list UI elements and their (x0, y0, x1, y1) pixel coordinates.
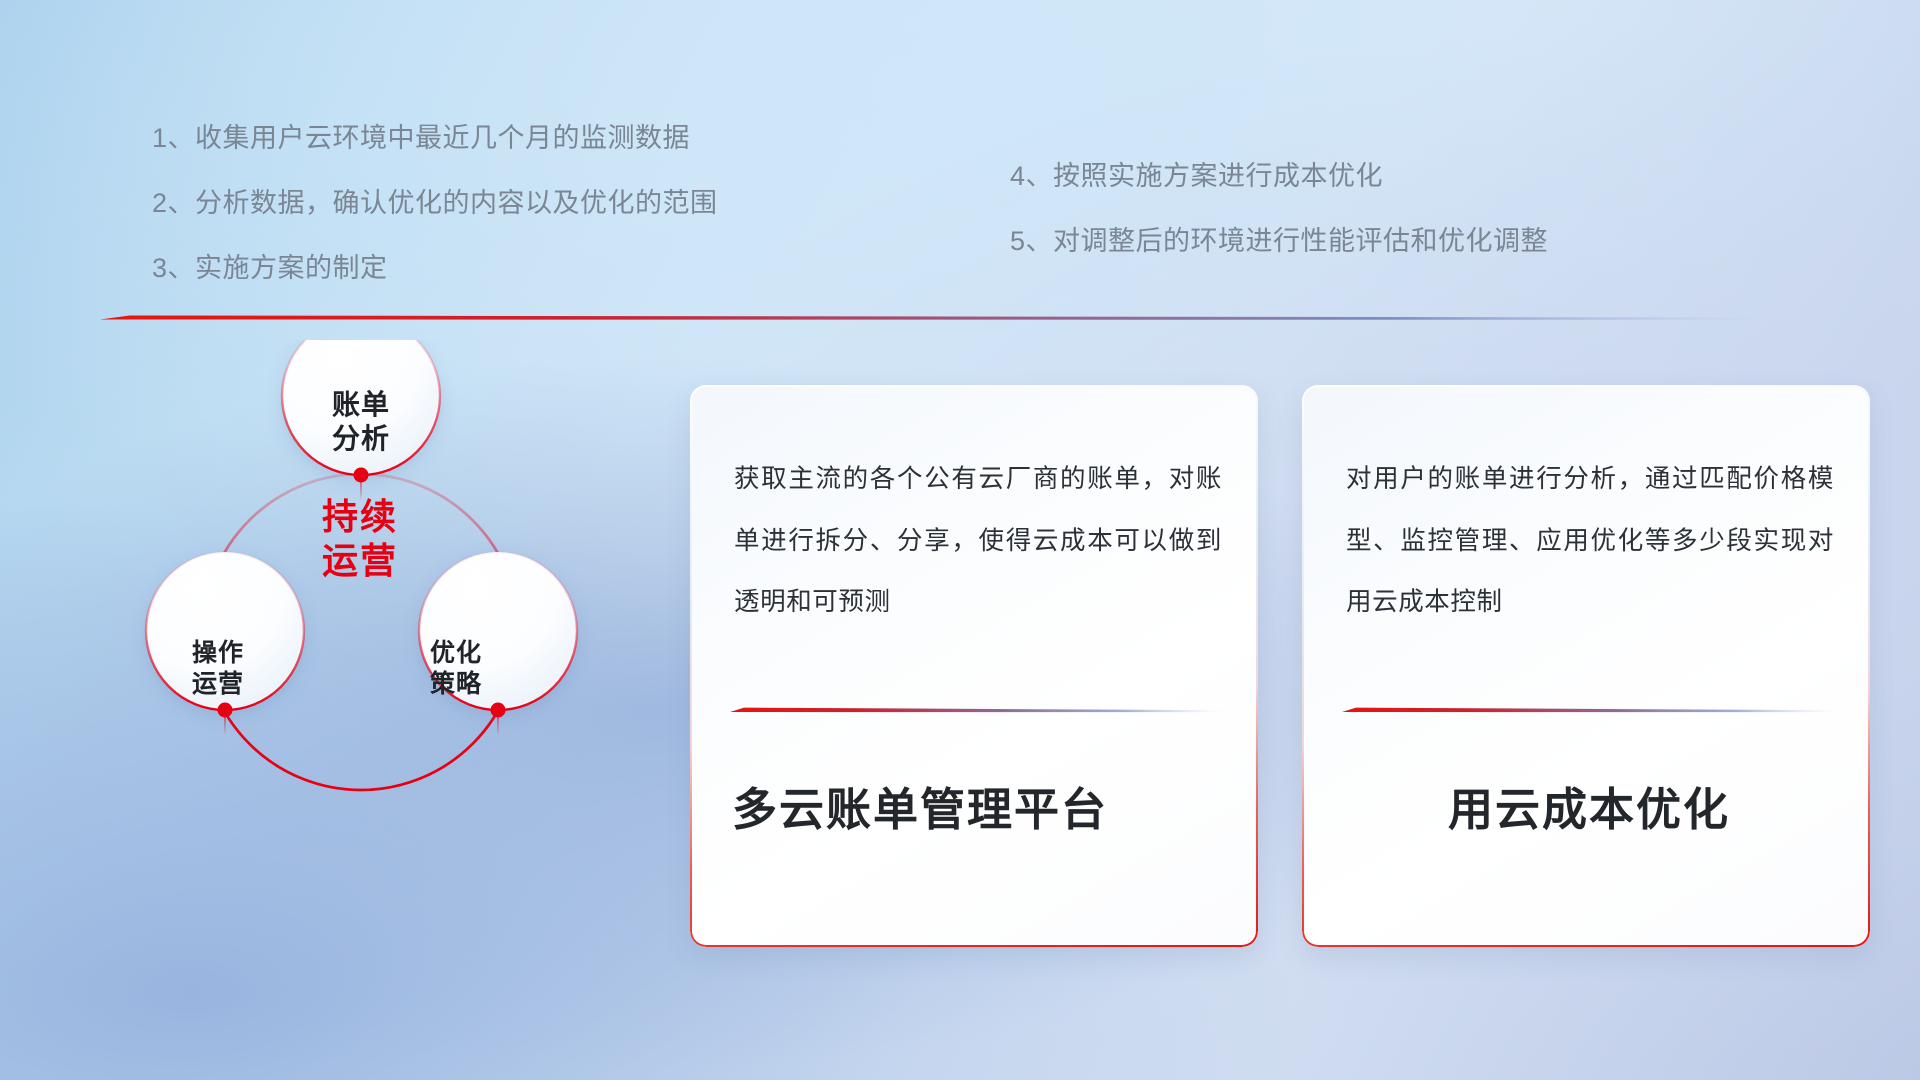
card-body: 对用户的账单进行分析，通过匹配价格模型、监控管理、应用优化等多少段实现对用云成本… (1346, 449, 1834, 634)
process-step-item: 5、对调整后的环境进行性能评估和优化调整 (1010, 228, 1548, 255)
process-steps-left: 1、收集用户云环境中最近几个月的监测数据 2、分析数据，确认优化的内容以及优化的… (152, 125, 718, 320)
card-divider-rule (730, 705, 1224, 715)
card-body: 获取主流的各个公有云厂商的账单，对账单进行拆分、分享，使得云成本可以做到透明和可… (734, 449, 1222, 634)
process-steps-right: 4、按照实施方案进行成本优化 5、对调整后的环境进行性能评估和优化调整 (1010, 163, 1548, 293)
section-divider (100, 310, 1760, 324)
card-description: 获取主流的各个公有云厂商的账单，对账单进行拆分、分享，使得云成本可以做到透明和可… (734, 449, 1222, 634)
process-step-item: 1、收集用户云环境中最近几个月的监测数据 (152, 125, 718, 152)
card-title: 多云账单管理平台 (732, 785, 1222, 835)
card-description: 对用户的账单进行分析，通过匹配价格模型、监控管理、应用优化等多少段实现对用云成本… (1346, 449, 1834, 634)
feature-card-multi-cloud-billing-platform[interactable]: 获取主流的各个公有云厂商的账单，对账单进行拆分、分享，使得云成本可以做到透明和可… (690, 385, 1258, 947)
slide-canvas: 1、收集用户云环境中最近几个月的监测数据 2、分析数据，确认优化的内容以及优化的… (0, 0, 1920, 1080)
process-step-item: 3、实施方案的制定 (152, 255, 718, 282)
venn-graphic (80, 340, 640, 940)
process-step-item: 2、分析数据，确认优化的内容以及优化的范围 (152, 190, 718, 217)
process-step-item: 4、按照实施方案进行成本优化 (1010, 163, 1548, 190)
feature-card-cloud-cost-optimization[interactable]: 对用户的账单进行分析，通过匹配价格模型、监控管理、应用优化等多少段实现对用云成本… (1302, 385, 1870, 947)
card-divider-rule (1342, 705, 1836, 715)
card-title: 用云成本优化 (1344, 785, 1834, 835)
continuous-operations-diagram: 账单 分析 操作 运营 优化 策略 持续 运营 (80, 340, 640, 940)
